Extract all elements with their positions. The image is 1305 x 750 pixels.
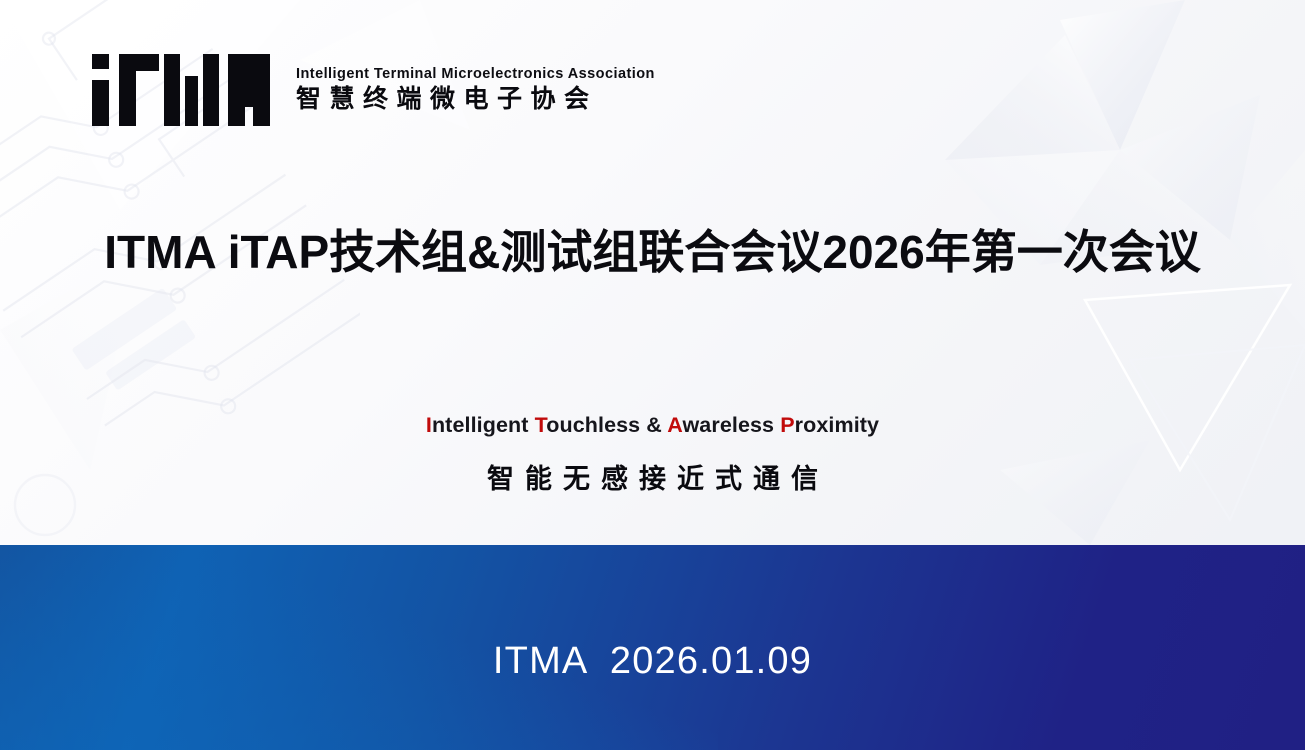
tagline-cn: 智能无感接近式通信 [0, 462, 1305, 497]
organization-name-en: Intelligent Terminal Microelectronics As… [296, 66, 655, 83]
organization-name-cn: 智慧终端微电子协会 [296, 85, 655, 114]
tagline-initial-a: A [667, 413, 682, 437]
tagline-initial-t: T [535, 413, 547, 437]
title-block: ITMA iTAP技术组&测试组联合会议2026年第一次会议 [0, 222, 1305, 283]
tagline-en: Intelligent Touchless & Awareless Proxim… [0, 410, 1305, 440]
page-title: ITMA iTAP技术组&测试组联合会议2026年第一次会议 [80, 222, 1225, 283]
tagline-initial-p: P [780, 413, 794, 437]
title-slide: Intelligent Terminal Microelectronics As… [0, 0, 1305, 750]
tagline-word-proximity: roximity [795, 413, 879, 437]
brand-lockup: Intelligent Terminal Microelectronics As… [92, 54, 655, 126]
tagline-word-intelligent: ntelligent [432, 413, 535, 437]
tagline-word-awareless: wareless [682, 413, 780, 437]
brand-text-group: Intelligent Terminal Microelectronics As… [296, 66, 655, 114]
footer-band: ITMA 2026.01.09 [0, 545, 1305, 750]
tagline-block: Intelligent Touchless & Awareless Proxim… [0, 410, 1305, 497]
itma-logo-icon [92, 54, 270, 126]
footer-organization-date: ITMA 2026.01.09 [493, 640, 812, 683]
tagline-word-touchless: ouchless & [546, 413, 667, 437]
